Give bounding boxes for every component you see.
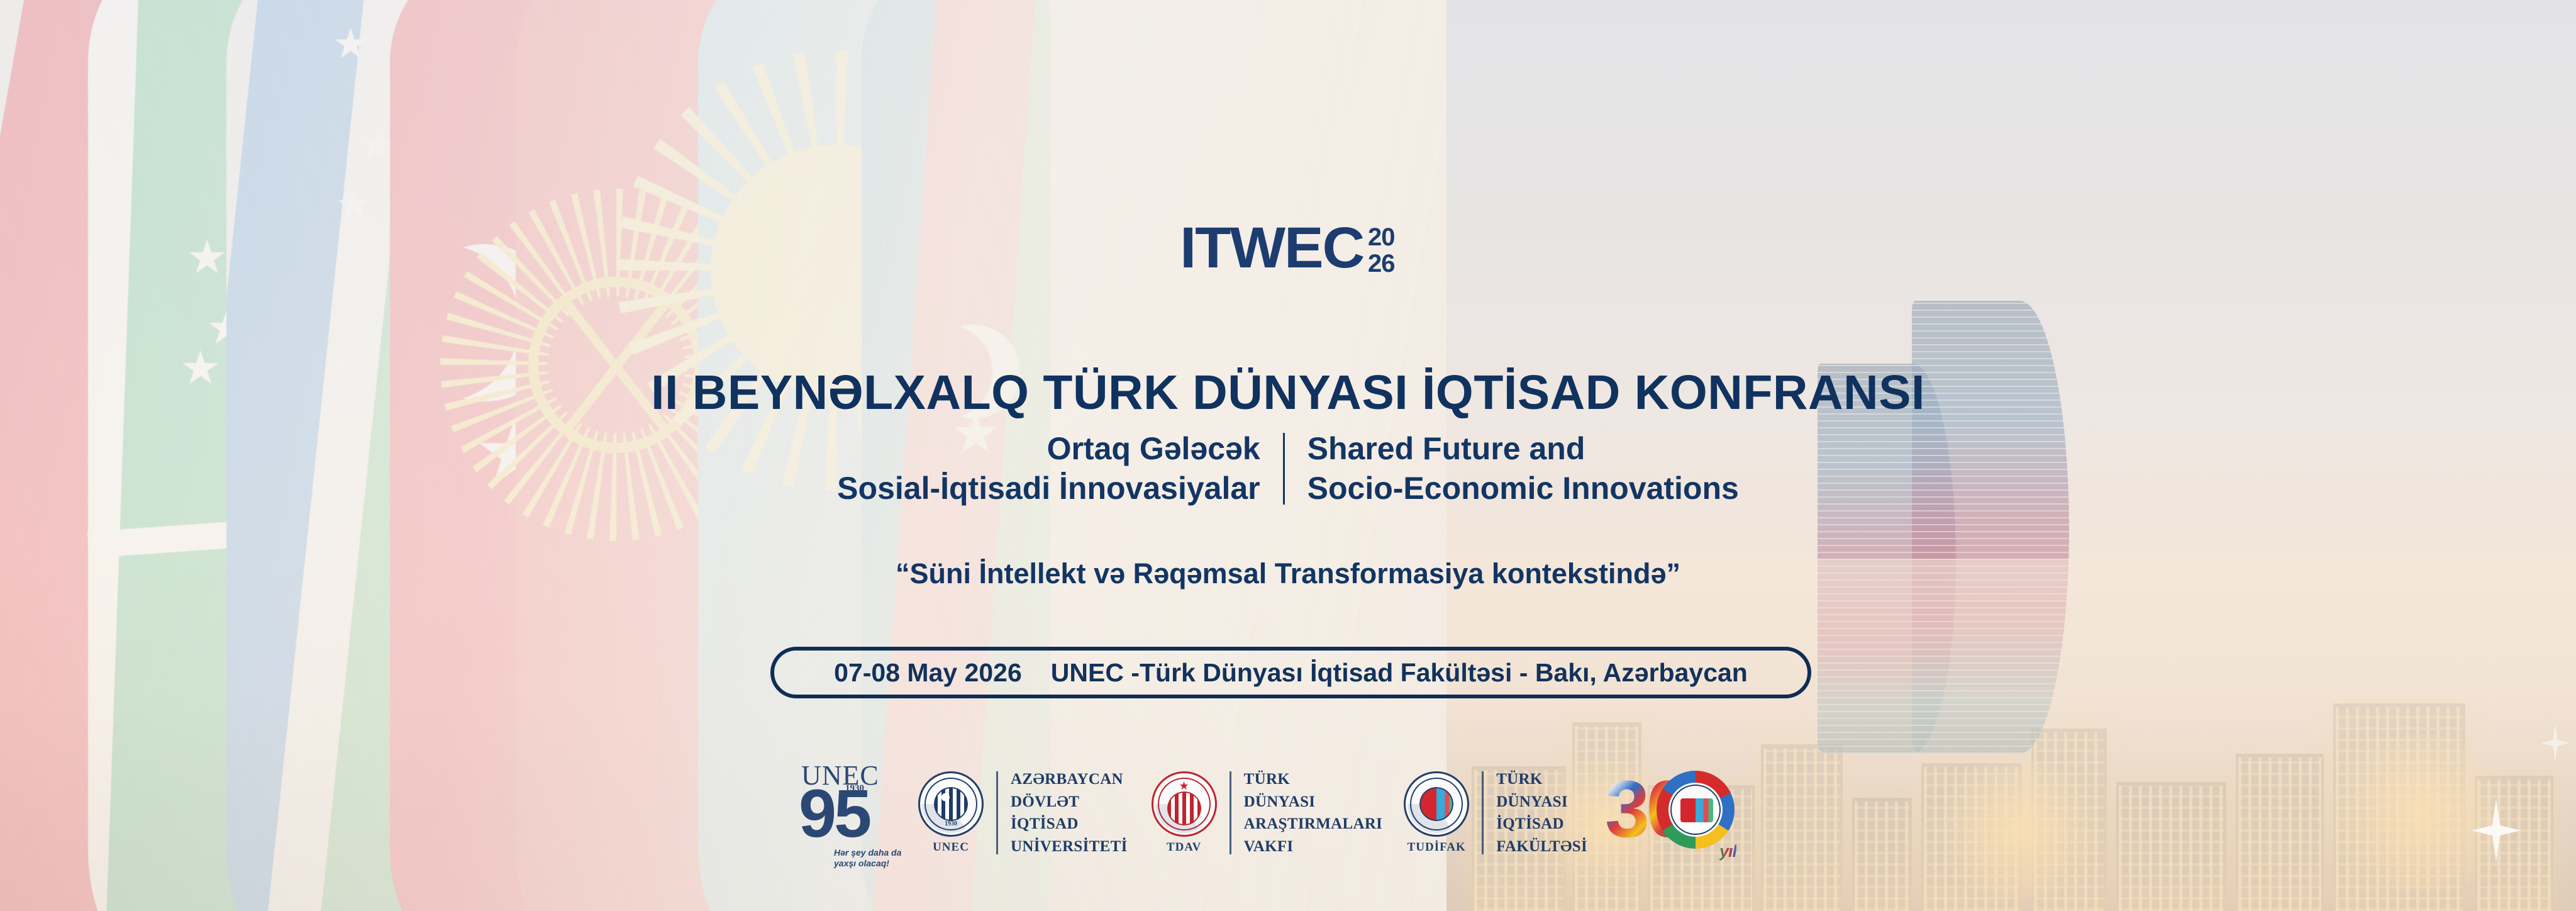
subtitle-en-line-2: Socio-Economic Innovations (1307, 469, 1739, 508)
tdav-text-line-1: TÜRK (1244, 768, 1383, 791)
tudifak-text-line-4: FAKÜLTƏSİ (1496, 836, 1587, 858)
conference-date: 07-08 May 2026 (834, 658, 1022, 688)
unec-seal-year: 1930 (920, 820, 982, 827)
subtitle-azerbaijani: Ortaq Gələcək Sosial-İqtisadi İnnovasiya… (837, 429, 1282, 508)
unec-text-line-1: AZƏRBAYCAN (1011, 768, 1128, 791)
tdav-text-line-4: VAKFI (1244, 836, 1383, 858)
partner-logo-row: UNEC 95 1930 Hər şey daha da yaxşı olaca… (799, 750, 1843, 876)
unec-95-mark: UNEC 95 1930 Hər şey daha da yaxşı olaca… (799, 757, 893, 869)
tdav-seal-icon: ★ (1152, 771, 1217, 837)
tdav-caption: TDAV (1167, 841, 1201, 854)
itwec-logo: ITWEC 20 26 (0, 221, 2576, 277)
logo-tudifak: TUDİFAK TÜRK DÜNYASI İQTİSAD FAKÜLTƏSİ (1404, 768, 1587, 858)
logo-unec-95: UNEC 95 1930 Hər şey daha da yaxşı olaca… (799, 757, 893, 869)
logo-thirty-years: 30 yıl (1587, 759, 1733, 866)
bilingual-subtitle: Ortaq Gələcək Sosial-İqtisadi İnnovasiya… (0, 429, 2576, 508)
itwec-wordmark: ITWEC (1180, 221, 1363, 275)
subtitle-az-line-2: Sosial-İqtisadi İnnovasiyalar (837, 469, 1260, 508)
subtitle-english: Shared Future and Socio-Economic Innovat… (1285, 429, 1739, 508)
unec-95-tagline: Hər şey daha da yaxşı olacaq! (834, 847, 903, 869)
banner-content: ITWEC 20 26 II BEYNƏLXALQ TÜRK DÜNYASI İ… (0, 0, 2576, 911)
conference-title: II BEYNƏLXALQ TÜRK DÜNYASI İQTİSAD KONFR… (0, 365, 2576, 421)
unec-university-text: AZƏRBAYCAN DÖVLƏT İQTİSAD UNİVERSİTETİ (1011, 768, 1128, 858)
date-venue-box: 07-08 May 2026 UNEC -Türk Dünyası İqtisa… (770, 647, 1811, 698)
tdav-seal-wrap: ★ TDAV (1152, 771, 1217, 854)
tdav-text: TÜRK DÜNYASI ARAŞTIRMALARI VAKFI (1244, 768, 1383, 858)
conference-banner: ★ ★ ★ ★ ★ ★ ★ ★ ITWEC 20 26 (0, 0, 2576, 911)
tudifak-text: TÜRK DÜNYASI İQTİSAD FAKÜLTƏSİ (1496, 768, 1587, 858)
subtitle-az-line-1: Ortaq Gələcək (837, 429, 1260, 469)
itwec-year-bottom: 26 (1368, 250, 1395, 277)
logo-tdav: ★ TDAV TÜRK DÜNYASI ARAŞTIRMALARI VAKFI (1152, 768, 1383, 858)
thirty-seal-icon (1670, 785, 1721, 835)
logo-divider (1482, 771, 1484, 854)
unec-seal-icon: 1930 (918, 771, 984, 837)
tudifak-text-line-2: DÜNYASI (1496, 791, 1587, 813)
unec-seal-caption: UNEC (933, 841, 969, 854)
tdav-star-icon: ★ (1153, 780, 1215, 793)
tdav-text-line-2: DÜNYASI (1244, 791, 1383, 813)
logo-divider (996, 771, 998, 854)
itwec-year-top: 20 (1368, 224, 1395, 250)
conference-theme: “Süni İntellekt və Rəqəmsal Transformasi… (0, 557, 2576, 590)
tudifak-seal-icon (1404, 771, 1469, 837)
subtitle-en-line-1: Shared Future and (1307, 429, 1739, 469)
thirty-years-mark: 30 yıl (1604, 759, 1733, 866)
itwec-year: 20 26 (1368, 224, 1395, 277)
tdav-text-line-3: ARAŞTIRMALARI (1244, 813, 1383, 836)
unec-text-line-4: UNİVERSİTETİ (1011, 836, 1128, 858)
conference-venue: UNEC -Türk Dünyası İqtisad Fakültəsi - B… (1051, 658, 1748, 688)
unec-text-line-2: DÖVLƏT (1011, 791, 1128, 813)
tudifak-seal-wrap: TUDİFAK (1404, 771, 1469, 854)
tudifak-text-line-1: TÜRK (1496, 768, 1587, 791)
thirty-label: yıl (1719, 842, 1736, 861)
tudifak-text-line-3: İQTİSAD (1496, 813, 1587, 836)
unec-text-line-3: İQTİSAD (1011, 813, 1128, 836)
unec-95-year: 1930 (845, 783, 864, 794)
logo-divider (1230, 771, 1231, 854)
tudifak-caption: TUDİFAK (1407, 841, 1466, 854)
logo-unec-university: 1930 UNEC AZƏRBAYCAN DÖVLƏT İQTİSAD UNİV… (918, 768, 1128, 858)
unec-seal-wrap: 1930 UNEC (918, 771, 984, 854)
